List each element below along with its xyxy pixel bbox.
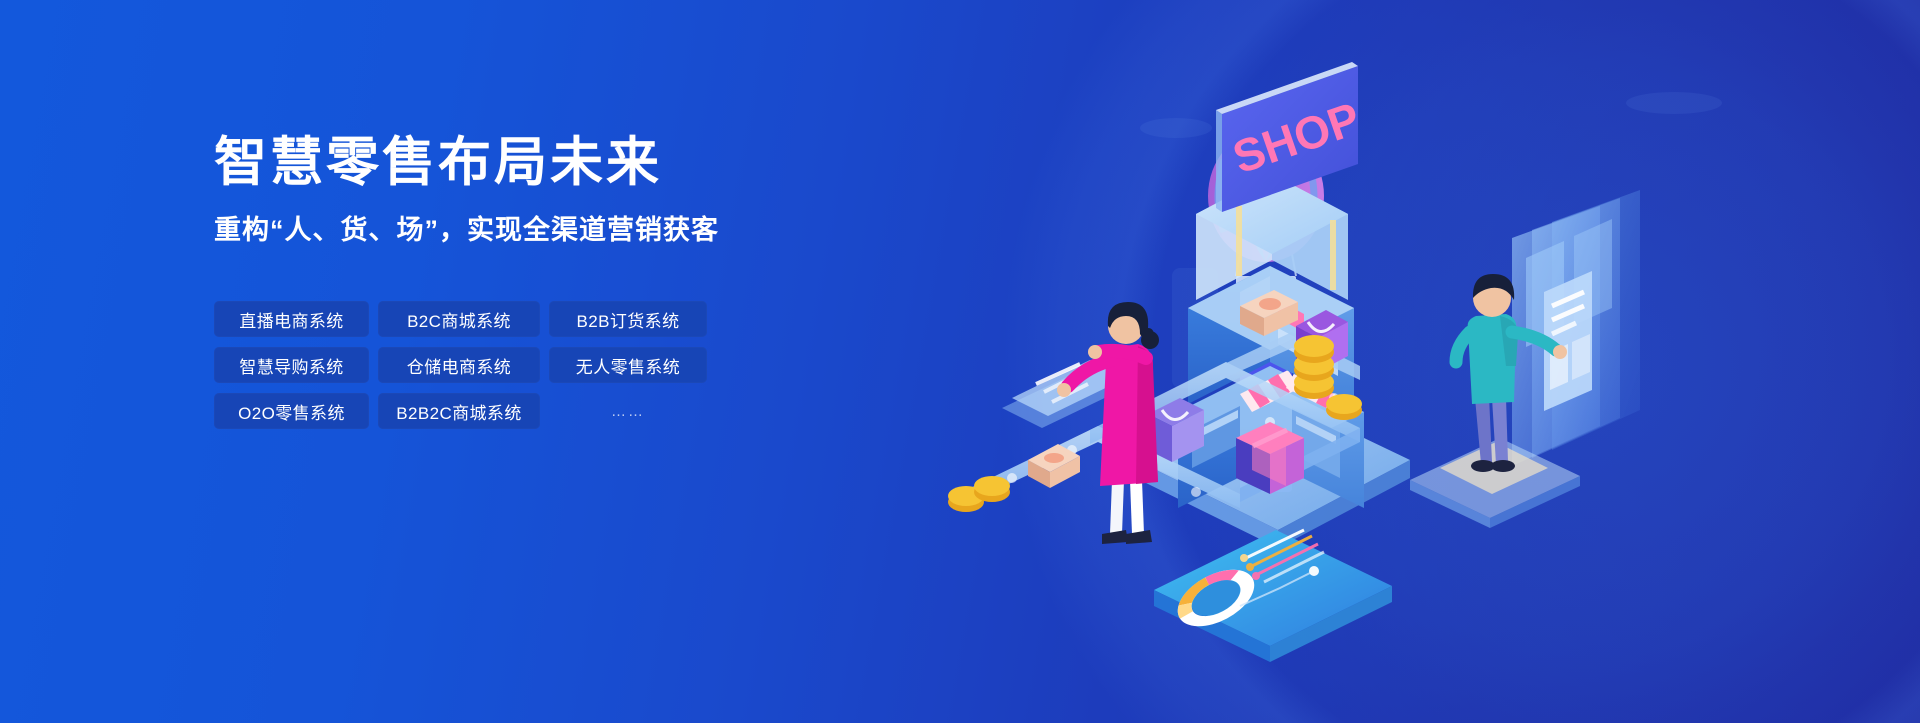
woman-shopper-figure [1057, 302, 1159, 544]
cloud-decoration [1626, 92, 1722, 114]
tag-more-ellipsis: …… [549, 393, 707, 429]
tag-warehouse[interactable]: 仓储电商系统 [378, 347, 540, 383]
tag-unmanned-retail[interactable]: 无人零售系统 [549, 347, 707, 383]
tag-smart-guide[interactable]: 智慧导购系统 [214, 347, 369, 383]
floating-ui-panels [1512, 190, 1640, 466]
hero-copy: 智慧零售布局未来 重构“人、货、场”，实现全渠道营销获客 [214, 133, 854, 248]
system-tag-grid: 直播电商系统 B2C商城系统 B2B订货系统 智慧导购系统 仓储电商系统 无人零… [214, 301, 707, 429]
hero-banner: 智慧零售布局未来 重构“人、货、场”，实现全渠道营销获客 直播电商系统 B2C商… [0, 0, 1920, 723]
page-title: 智慧零售布局未来 [214, 133, 854, 192]
tag-live-commerce[interactable]: 直播电商系统 [214, 301, 369, 337]
tag-o2o-retail[interactable]: O2O零售系统 [214, 393, 369, 429]
retail-isometric-illustration: SHOP [940, 10, 1640, 710]
page-subtitle: 重构“人、货、场”，实现全渠道营销获客 [214, 214, 854, 248]
gold-coins-icon [948, 476, 1010, 512]
tag-b2c-mall[interactable]: B2C商城系统 [378, 301, 540, 337]
tag-b2b2c-mall[interactable]: B2B2C商城系统 [378, 393, 540, 429]
man-platform [1410, 438, 1580, 528]
tag-b2b-ordering[interactable]: B2B订货系统 [549, 301, 707, 337]
analytics-dashboard-card [1154, 530, 1392, 662]
